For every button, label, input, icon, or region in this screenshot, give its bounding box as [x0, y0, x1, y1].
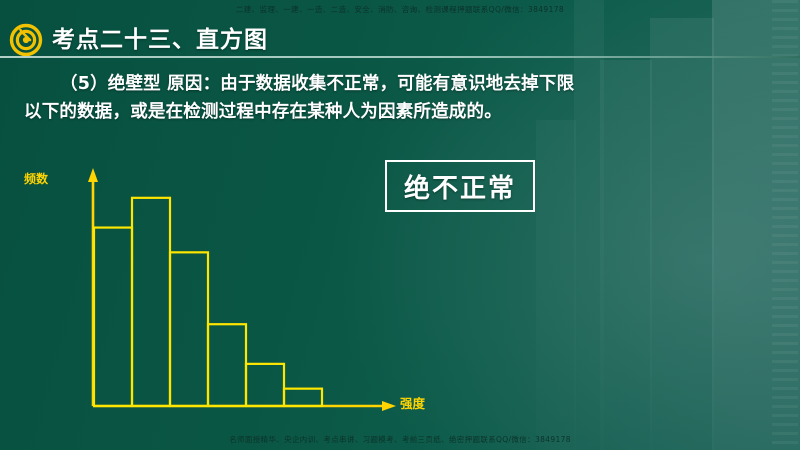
histogram-bar [94, 228, 132, 406]
target-bullseye-icon [8, 21, 44, 57]
building-silhouette [574, 0, 604, 450]
chart-canvas [0, 160, 470, 430]
header-divider [0, 56, 800, 58]
histogram-bar [246, 364, 284, 406]
slide-header: 考点二十三、直方图 [0, 18, 800, 58]
building-silhouette [536, 120, 576, 450]
slide: 二建、监理、一建、一造、二造、安全、消防、咨询、检测课程押题联系QQ/微信：38… [0, 0, 800, 450]
building-silhouette [712, 0, 800, 450]
top-promo-text: 二建、监理、一建、一造、二造、安全、消防、咨询、检测课程押题联系QQ/微信：38… [236, 4, 564, 15]
histogram-chart: 频数 强度 [0, 160, 470, 430]
building-silhouette [650, 18, 714, 450]
building-window-texture [772, 0, 798, 450]
bottom-promo-strip: 名师面授精华、央企内训、考点串讲、习题模考、考前三页纸、绝密押题联系QQ/微信：… [0, 432, 800, 446]
page-title: 考点二十三、直方图 [52, 20, 268, 54]
histogram-bar [132, 198, 170, 406]
top-promo-strip: 二建、监理、一建、一造、二造、安全、消防、咨询、检测课程押题联系QQ/微信：38… [0, 0, 800, 18]
histogram-bar [284, 389, 322, 406]
body-paragraph: （5）绝壁型 原因：由于数据收集不正常，可能有意识地去掉下限以下的数据，或是在检… [24, 70, 590, 127]
histogram-bar [208, 324, 246, 406]
histogram-bar [170, 252, 208, 406]
histogram-bars [94, 198, 322, 406]
bottom-promo-text: 名师面授精华、央企内训、考点串讲、习题模考、考前三页纸、绝密押题联系QQ/微信：… [229, 434, 571, 445]
building-silhouette [600, 60, 652, 450]
